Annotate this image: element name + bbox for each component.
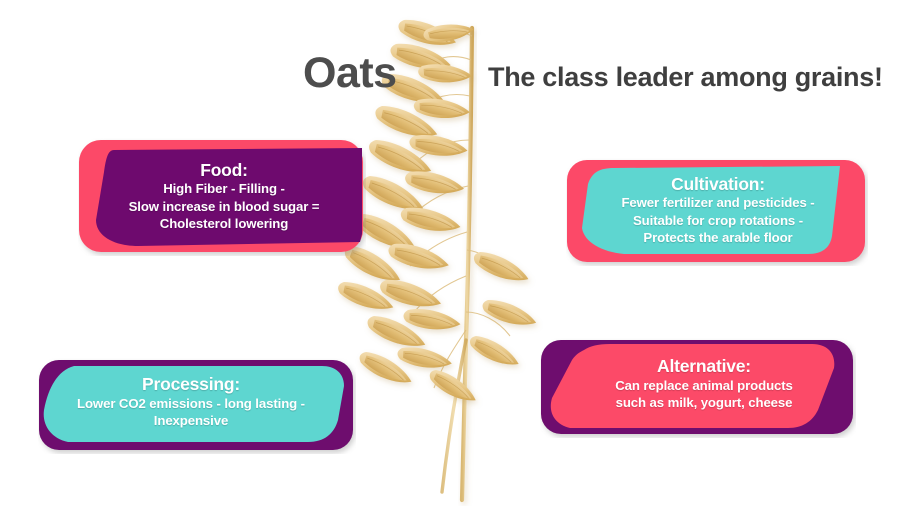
card-food-line-2: Slow increase in blood sugar = [129,198,320,215]
card-cultivation-line-2: Suitable for crop rotations - [633,212,803,229]
card-cultivation-line-1: Fewer fertilizer and pesticides - [621,194,814,211]
card-alternative-line-2: such as milk, yogurt, cheese [616,394,793,411]
card-processing-text: Processing: Lower CO2 emissions - long l… [38,358,356,454]
card-food-line-3: Cholesterol lowering [160,215,288,232]
page-title: Oats [303,52,397,95]
card-cultivation-heading: Cultivation: [671,174,765,195]
card-alternative-heading: Alternative: [657,356,751,377]
card-food-text: Food: High Fiber - Filling - Slow increa… [78,138,366,256]
card-food[interactable]: Food: High Fiber - Filling - Slow increa… [78,138,366,256]
card-cultivation[interactable]: Cultivation: Fewer fertilizer and pestic… [566,158,868,266]
card-processing[interactable]: Processing: Lower CO2 emissions - long l… [38,358,356,454]
card-food-line-1: High Fiber - Filling - [163,180,285,197]
page-tagline: The class leader among grains! [488,64,883,91]
card-alternative-line-1: Can replace animal products [615,377,793,394]
card-cultivation-line-3: Protects the arable floor [643,229,792,246]
card-alternative[interactable]: Alternative: Can replace animal products… [540,338,856,438]
card-processing-line-1: Lower CO2 emissions - long lasting - [77,395,305,412]
infographic-canvas: Oats The class leader among grains! Food… [0,0,900,506]
card-alternative-text: Alternative: Can replace animal products… [540,338,856,438]
card-processing-line-2: Inexpensive [154,412,228,429]
card-processing-heading: Processing: [142,374,240,395]
card-food-heading: Food: [200,160,248,181]
card-cultivation-text: Cultivation: Fewer fertilizer and pestic… [566,158,868,266]
